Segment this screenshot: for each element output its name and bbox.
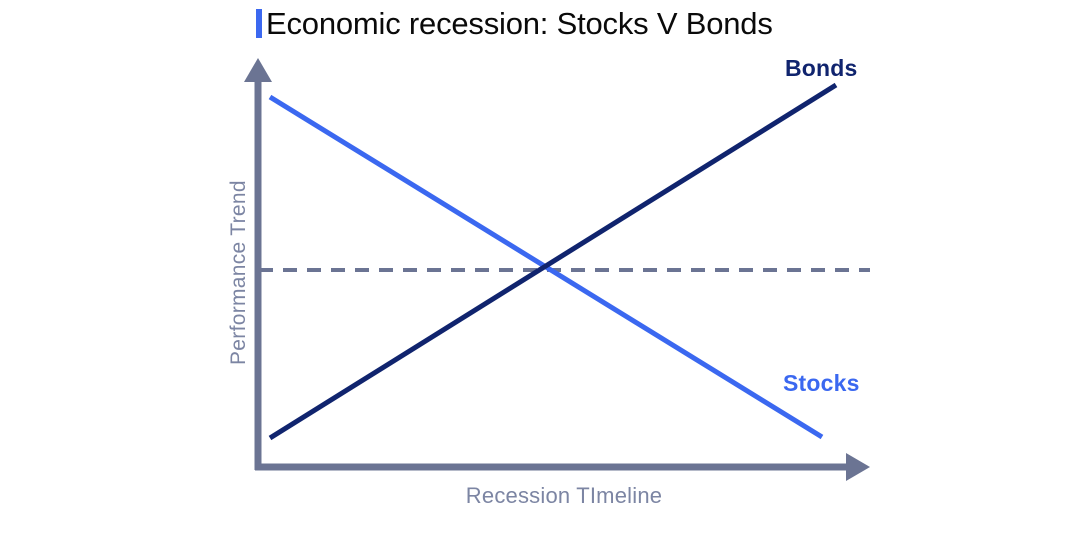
y-axis-label: Performance Trend — [227, 180, 251, 365]
x-axis-arrow-right-icon — [846, 453, 870, 481]
x-axis-label: Recession TImeline — [258, 483, 870, 509]
chart-canvas: Economic recession: Stocks V Bonds Perfo… — [0, 0, 1080, 540]
series-label-stocks: Stocks — [783, 370, 860, 397]
series-label-bonds: Bonds — [785, 55, 858, 82]
y-axis-arrow-up-icon — [244, 58, 272, 82]
plot-area — [0, 0, 1080, 540]
series-line-bonds — [270, 85, 836, 438]
